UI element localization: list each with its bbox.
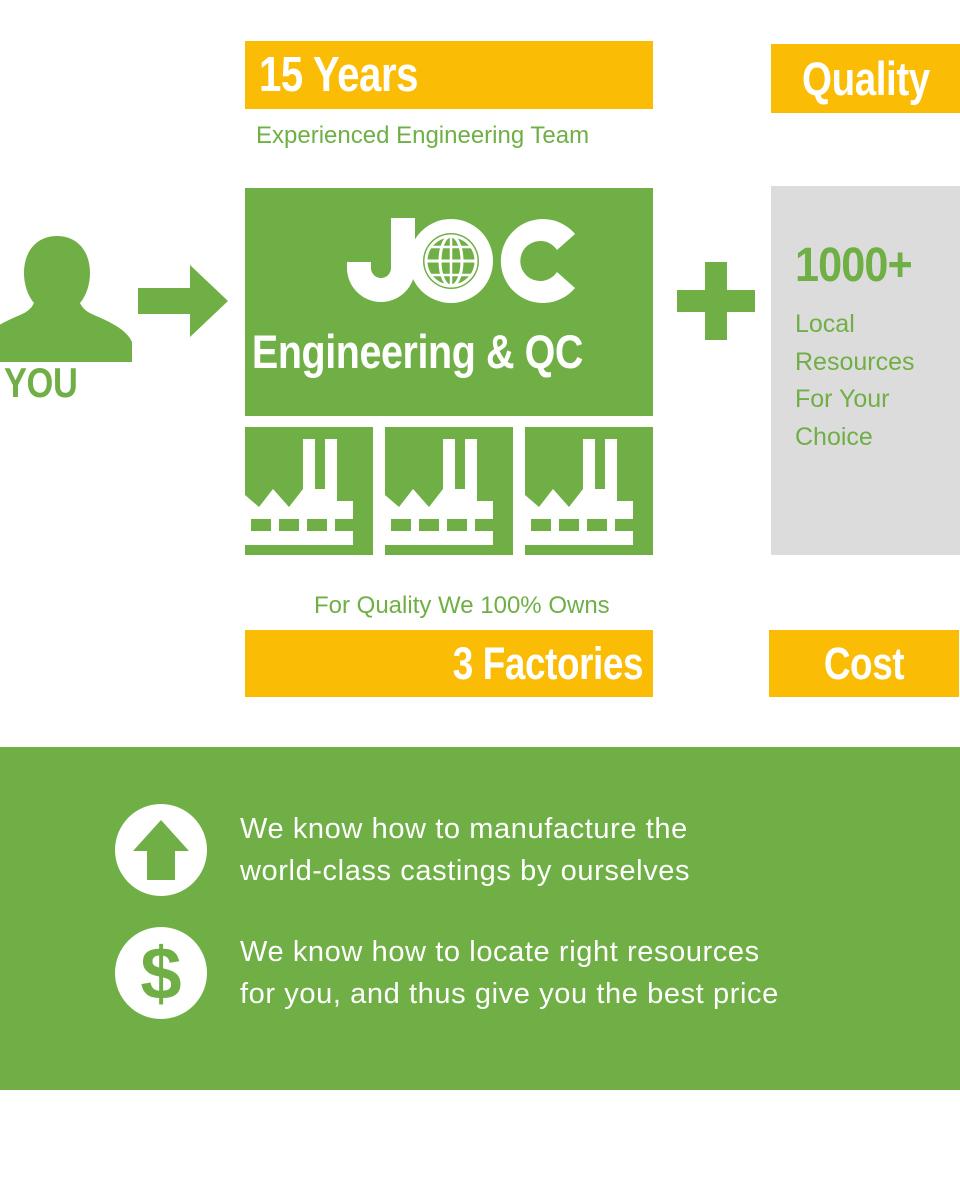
factories-badge: 3 Factories <box>245 630 653 697</box>
up-arrow-circle-icon <box>115 804 207 896</box>
factory-tiles <box>245 427 653 555</box>
arrow-right-icon <box>138 265 228 337</box>
dollar-circle-icon: $ <box>115 927 207 1019</box>
you-label: YOU <box>4 362 77 404</box>
factory-icon <box>245 427 373 555</box>
factory-tile <box>245 427 373 555</box>
person-silhouette-icon <box>0 232 132 362</box>
benefit-text: We know how to manufacture the world-cla… <box>240 808 690 892</box>
cost-badge: Cost <box>769 630 959 697</box>
resources-description: Local Resources For Your Choice <box>795 306 960 456</box>
benefit-row: We know how to manufacture the world-cla… <box>115 804 690 896</box>
factories-badge-label: 3 Factories <box>453 641 643 686</box>
cost-badge-label: Cost <box>824 641 904 686</box>
benefits-panel: We know how to manufacture the world-cla… <box>0 747 960 1090</box>
benefit-row: $ We know how to locate right resources … <box>115 927 779 1019</box>
core-caption: Engineering & QC <box>252 328 583 375</box>
you-group: YOU <box>0 232 132 412</box>
joc-globe-logo-icon <box>323 216 575 306</box>
benefit-text: We know how to locate right resources fo… <box>240 931 779 1015</box>
quality-badge: Quality <box>771 44 960 113</box>
resources-panel: 1000+ Local Resources For Your Choice <box>771 186 960 555</box>
years-badge: 15 Years <box>245 41 653 109</box>
quality-badge-label: Quality <box>802 55 930 102</box>
years-subtitle: Experienced Engineering Team <box>256 122 589 150</box>
plus-icon <box>677 262 755 340</box>
owns-subtitle: For Quality We 100% Owns <box>314 592 610 620</box>
factory-tile <box>525 427 653 555</box>
years-badge-label: 15 Years <box>259 51 418 100</box>
factory-tile <box>385 427 513 555</box>
svg-text:$: $ <box>140 932 181 1015</box>
factory-icon <box>385 427 513 555</box>
core-engineering-box: Engineering & QC <box>245 188 653 416</box>
resources-count: 1000+ <box>795 242 944 290</box>
infographic-page: 15 Years Experienced Engineering Team Qu… <box>0 0 960 1200</box>
factory-icon <box>525 427 653 555</box>
